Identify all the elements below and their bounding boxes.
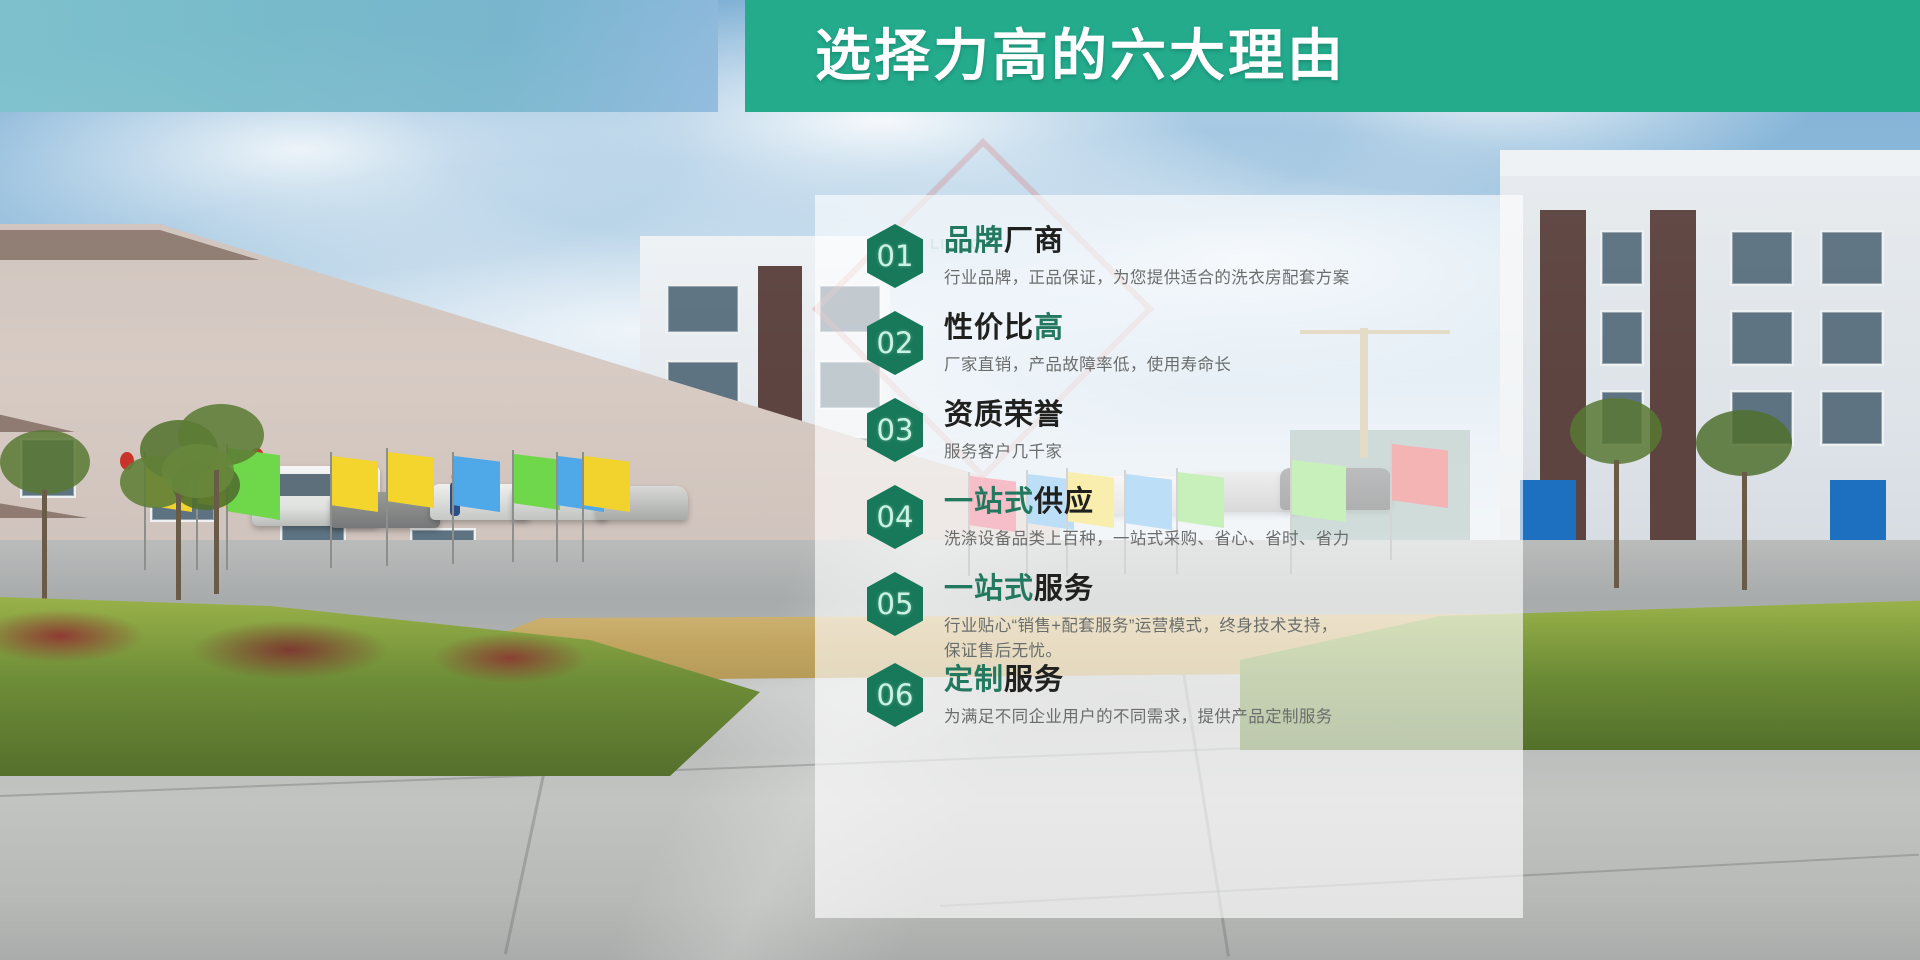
- feature-title-plain: 厂商: [1004, 225, 1064, 257]
- feature-title-accent: 品牌: [944, 225, 1004, 257]
- feature-number: 02: [877, 329, 914, 358]
- feature-text: 一站式供应 洗涤设备品类上百种，一站式采购、省心、省时、省力: [944, 483, 1509, 552]
- feature-number: 03: [877, 416, 914, 445]
- feature-number-badge: 01: [867, 224, 923, 288]
- feature-subtitle: 行业品牌，正品保证，为您提供适合的洗衣房配套方案: [944, 266, 1509, 291]
- header-side-band: [0, 0, 718, 112]
- feature-title-plain: 性价比: [944, 312, 1034, 344]
- feature-title-plain: 服务: [1004, 664, 1064, 696]
- feature-title-plain: 资质荣誉: [944, 399, 1064, 431]
- feature-subtitle-line: 行业贴心“销售+配套服务”运营模式，终身技术支持，: [944, 614, 1509, 639]
- feature-title-plain: 供应: [1034, 486, 1094, 518]
- feature-number-badge: 06: [867, 663, 923, 727]
- feature-title: 品牌厂商: [944, 222, 1509, 260]
- feature-subtitle: 服务客户几千家: [944, 440, 1509, 465]
- feature-number: 06: [877, 681, 914, 710]
- feature-title-accent-tail: 高: [1034, 312, 1064, 344]
- feature-title: 资质荣誉: [944, 396, 1509, 434]
- feature-title: 一站式服务: [944, 570, 1509, 608]
- feature-number-badge: 02: [867, 311, 923, 375]
- feature-text: 定制服务 为满足不同企业用户的不同需求，提供产品定制服务: [944, 661, 1509, 730]
- feature-subtitle-line: 行业品牌，正品保证，为您提供适合的洗衣房配套方案: [944, 266, 1509, 291]
- feature-number: 04: [877, 503, 914, 532]
- features-panel: 01 品牌厂商 行业品牌，正品保证，为您提供适合的洗衣房配套方案 02: [815, 195, 1523, 918]
- page-title: 选择力高的六大理由: [815, 16, 1346, 96]
- features-list: 01 品牌厂商 行业品牌，正品保证，为您提供适合的洗衣房配套方案 02: [815, 195, 1523, 918]
- feature-number-badge: 03: [867, 398, 923, 462]
- feature-subtitle-line: 为满足不同企业用户的不同需求，提供产品定制服务: [944, 705, 1509, 730]
- feature-title: 一站式供应: [944, 483, 1509, 521]
- feature-text: 一站式服务 行业贴心“销售+配套服务”运营模式，终身技术支持， 保证售后无忧。: [944, 570, 1509, 664]
- feature-title: 性价比高: [944, 309, 1509, 347]
- feature-subtitle-line: 服务客户几千家: [944, 440, 1509, 465]
- feature-title-plain: 服务: [1034, 573, 1094, 605]
- feature-text: 性价比高 厂家直销，产品故障率低，使用寿命长: [944, 309, 1509, 378]
- feature-number-badge: 04: [867, 485, 923, 549]
- feature-text: 资质荣誉 服务客户几千家: [944, 396, 1509, 465]
- feature-subtitle-line: 洗涤设备品类上百种，一站式采购、省心、省时、省力: [944, 527, 1509, 552]
- feature-number: 05: [877, 590, 914, 619]
- feature-text: 品牌厂商 行业品牌，正品保证，为您提供适合的洗衣房配套方案: [944, 222, 1509, 291]
- feature-subtitle: 行业贴心“销售+配套服务”运营模式，终身技术支持， 保证售后无忧。: [944, 614, 1509, 664]
- feature-subtitle-line: 厂家直销，产品故障率低，使用寿命长: [944, 353, 1509, 378]
- feature-title-accent: 一站式: [944, 573, 1034, 605]
- feature-title: 定制服务: [944, 661, 1509, 699]
- feature-subtitle: 洗涤设备品类上百种，一站式采购、省心、省时、省力: [944, 527, 1509, 552]
- feature-subtitle: 厂家直销，产品故障率低，使用寿命长: [944, 353, 1509, 378]
- feature-title-accent: 定制: [944, 664, 1004, 696]
- banner-stage: LIGAO 选择力高的六大理由 01 品牌厂商 行业品牌，正品保证，为您提供适合…: [0, 0, 1920, 960]
- feature-number: 01: [877, 242, 914, 271]
- feature-number-badge: 05: [867, 572, 923, 636]
- feature-subtitle: 为满足不同企业用户的不同需求，提供产品定制服务: [944, 705, 1509, 730]
- feature-title-accent: 一站式: [944, 486, 1034, 518]
